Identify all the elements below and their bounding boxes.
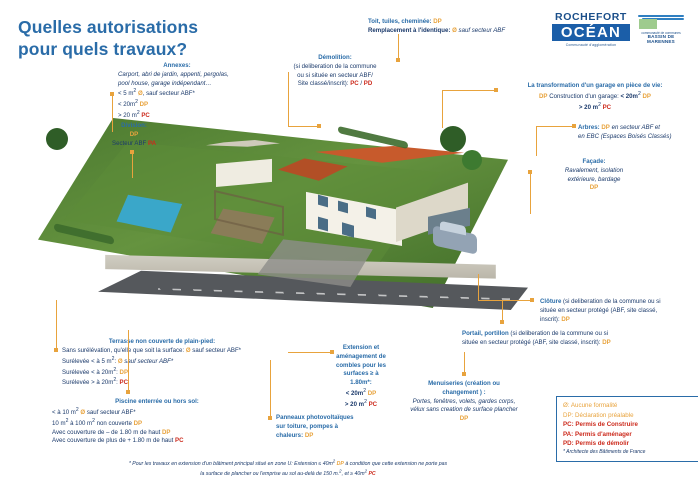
- terrasse-rule-1: Sans surélévation, qu'elle que soit la s…: [62, 347, 262, 356]
- annexes-heading: Annexes:: [118, 62, 236, 71]
- leader-line-panneaux: [270, 360, 271, 416]
- connector-dot-panneaux: [268, 416, 272, 420]
- menuiseries-heading-2: changement ) :: [398, 389, 530, 398]
- leader-line-garage-h: [442, 90, 494, 91]
- garden-annex-building: [206, 140, 280, 198]
- callout-arbres: Arbres: DP en secteur ABF et en EBC (Esp…: [578, 124, 690, 142]
- leader-line-piscine: [128, 330, 129, 390]
- piscine-rule-1: < à 10 m2 Ø sauf secteur ABF*: [52, 407, 262, 418]
- legend-box: Ø: Aucune formalité DP: Déclaration préa…: [556, 396, 698, 462]
- terrasse-heading: Terrasse non couverte de plain-pied:: [62, 338, 262, 347]
- portail-line-2: située en secteur protégé (ABF, site cla…: [462, 339, 662, 348]
- extension-heading-5: 1.80m*:: [318, 379, 404, 388]
- extension-rule-2: > 20 m2 PC: [318, 399, 404, 410]
- house-facade-front: [306, 180, 402, 246]
- piscine-rule-2: 10 m2 à 100 m2 non couverte DP: [52, 418, 262, 429]
- callout-terrasse: Terrasse non couverte de plain-pied: San…: [62, 338, 262, 388]
- cloture-line-1: Clôture (si deliberation de la commune o…: [540, 298, 692, 307]
- piscine-rule-4: Avec couverture de plus de + 1.80 m de h…: [52, 437, 262, 446]
- leader-line-facade: [530, 174, 531, 214]
- arbres-line-1: Arbres: DP en secteur ABF et: [578, 124, 690, 133]
- logo-partner-line2: BASSIN DE MARENNES: [647, 34, 675, 43]
- callout-division: Division: DP Secteur ABF PA: [88, 122, 180, 148]
- legend-item-0: Ø: Aucune formalité: [563, 401, 695, 411]
- callout-demolition: Démolition: (si deliberation de la commu…: [292, 54, 378, 89]
- leader-line-cloture-h: [478, 300, 530, 301]
- portail-line-1: Portail, portillon (si deliberation de l…: [462, 330, 662, 339]
- page-title: Quelles autorisations pour quels travaux…: [18, 16, 318, 61]
- callout-facade: Façade: Ravalement, isolation extérieure…: [540, 158, 648, 193]
- footnote-line-1: * Pour les travaux en extension d'un bât…: [129, 461, 447, 467]
- callout-toiture: Toit, tuiles, cheminée: DP Remplacement …: [368, 18, 583, 36]
- callout-panneaux: Panneaux photovoltaïques sur toiture, po…: [276, 414, 386, 440]
- annexes-rule-2: < 20m2 DP: [118, 99, 236, 110]
- logo-subtitle: Communauté d'agglomération: [552, 43, 630, 47]
- leader-line-arbres-h: [536, 126, 572, 127]
- facade-tag: DP: [540, 184, 648, 193]
- legend-item-3: PA: Permis d'aménager: [563, 430, 695, 440]
- demolition-body: (si deliberation de la commune ou si sit…: [292, 63, 378, 89]
- cloture-line-2: située en secteur protégé (ABF, site cla…: [540, 307, 692, 316]
- panneaux-line-3: chaleurs: DP: [276, 432, 386, 441]
- connector-dot-terrasse: [54, 348, 58, 352]
- legend-item-4: PD: Permis de démolir: [563, 439, 695, 449]
- connector-dot-garage: [494, 88, 498, 92]
- leader-line-demolition-v: [288, 72, 289, 126]
- garage-line-3: > 20 m2 PC: [500, 102, 690, 113]
- infographic-canvas: Quelles autorisations pour quels travaux…: [0, 0, 698, 494]
- leader-line-cloture-v: [478, 274, 479, 300]
- legend-item-1: DP: Déclaration préalable: [563, 411, 695, 421]
- connector-dot-demolition: [317, 124, 321, 128]
- legend-item-2: PC: Permis de Construire: [563, 420, 695, 430]
- annexes-rule-1: < 5 m2 Ø, sauf secteur ABF*: [118, 88, 236, 99]
- menuiseries-body-1: Portes, fenêtres, volets, gardes corps,: [398, 398, 530, 407]
- wave-icon: [636, 14, 686, 30]
- leader-line-extension: [288, 352, 330, 353]
- footnote-line-2: la surface de plancher ou l'emprise au s…: [200, 471, 375, 477]
- facade-line-1: Ravalement, isolation: [540, 167, 648, 176]
- callout-menuiseries: Menuiseries (création ou changement ) : …: [398, 380, 530, 424]
- piscine-heading: Piscine enterrée ou hors sol:: [52, 398, 262, 407]
- division-tag: DP: [88, 131, 180, 140]
- leader-line-toiture: [398, 34, 399, 60]
- toiture-line-1: Toit, tuiles, cheminée: DP: [368, 18, 583, 27]
- connector-dot-toiture: [396, 58, 400, 62]
- cloture-line-3: inscrit): DP: [540, 316, 692, 325]
- callout-annexes: Annexes: Carport, abri de jardin, appent…: [118, 62, 236, 121]
- demolition-heading: Démolition:: [292, 54, 378, 63]
- leader-line-portail: [502, 300, 503, 320]
- leader-line-demolition-h: [288, 126, 318, 127]
- footnote: * Pour les travaux en extension d'un bât…: [8, 458, 568, 478]
- callout-cloture: Clôture (si deliberation de la commune o…: [540, 298, 692, 324]
- toiture-line-2: Remplacement à l'identique: Ø sauf secte…: [368, 27, 583, 36]
- garage-line-1: La transformation d'un garage en pièce d…: [500, 82, 690, 91]
- annex-wall: [216, 156, 272, 192]
- callout-garage: La transformation d'un garage en pièce d…: [500, 82, 690, 113]
- facade-heading: Façade:: [540, 158, 648, 167]
- extension-heading-2: aménagement de: [318, 353, 404, 362]
- terrasse-rule-4: Surélevée > à 20m2: PC: [62, 377, 262, 388]
- connector-dot-arbres: [572, 124, 576, 128]
- extension-heading-4: surfaces ≥ à: [318, 370, 404, 379]
- facade-line-2: extérieure, bardage: [540, 176, 648, 185]
- leader-line-garage-v: [442, 90, 443, 128]
- annexes-description: Carport, abri de jardin, appenti, pergol…: [118, 71, 236, 89]
- terrasse-rule-3: Surélevée < à 20m2: DP: [62, 367, 262, 378]
- leader-line-division: [132, 154, 133, 178]
- panneaux-line-1: Panneaux photovoltaïques: [276, 414, 386, 423]
- connector-dot-piscine: [126, 390, 130, 394]
- connector-dot-extension: [330, 350, 334, 354]
- logo-partner-text: communauté de communes BASSIN DE MARENNE…: [636, 31, 686, 44]
- garage-line-2: DP Construction d'un garage: < 20m2 DP: [500, 91, 690, 102]
- extension-heading-3: combles pour les: [318, 362, 404, 371]
- division-line-2: Secteur ABF PA: [88, 140, 180, 149]
- menuiseries-body-2: vélux sans creation de surface plancher: [398, 406, 530, 415]
- menuiseries-tag: DP: [398, 415, 530, 424]
- extension-rule-1: < 20m2 DP: [318, 388, 404, 399]
- annexes-rule-3: > 20 m2 PC: [118, 110, 236, 121]
- leader-line-arbres-v: [536, 126, 537, 156]
- arbres-line-2: en EBC (Espaces Boisés Classés): [578, 133, 690, 142]
- connector-dot-menuiseries: [462, 372, 466, 376]
- logo-bassin-marennes: communauté de communes BASSIN DE MARENNE…: [636, 14, 686, 44]
- division-heading: Division:: [88, 122, 180, 131]
- panneaux-line-2: sur toiture, pompes à: [276, 423, 386, 432]
- connector-dot-cloture: [530, 298, 534, 302]
- callout-portail: Portail, portillon (si deliberation de l…: [462, 330, 662, 348]
- piscine-rule-3: Avec couverture de – de 1.80 m de haut D…: [52, 429, 262, 438]
- page-title-line2: pour quels travaux?: [18, 38, 318, 60]
- legend-note: * Architecte des Bâtiments de France: [563, 449, 695, 457]
- callout-piscine: Piscine enterrée ou hors sol: < à 10 m2 …: [52, 398, 262, 446]
- leader-line-menuiseries: [464, 352, 465, 372]
- connector-dot-portail: [500, 320, 504, 324]
- terrasse-rule-2: Surélevée < à 5 m2: Ø sauf secteur ABF*: [62, 356, 262, 367]
- leader-line-terrasse: [56, 300, 57, 348]
- menuiseries-heading-1: Menuiseries (création ou: [398, 380, 530, 389]
- page-title-line1: Quelles autorisations: [18, 16, 318, 38]
